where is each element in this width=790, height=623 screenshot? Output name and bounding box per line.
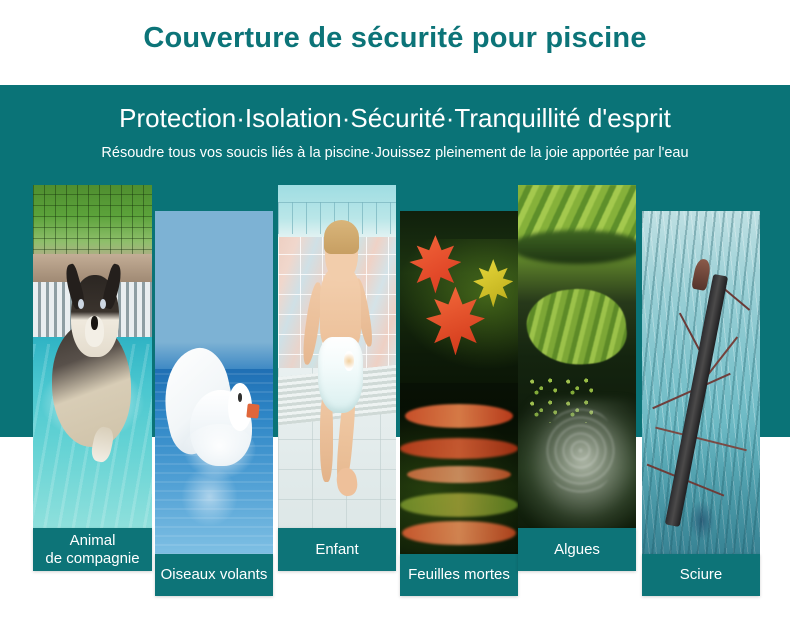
panel-child-image [278,185,396,530]
panel-pet[interactable] [33,185,152,530]
panel-birds-image [155,211,273,555]
panel-sawdust-image [642,211,760,555]
panel-dead-leaves[interactable] [400,211,518,555]
panel-pet-caption-line2: de compagnie [45,550,139,568]
banner-subheading: Résoudre tous vos soucis liés à la pisci… [0,145,790,161]
panel-algae-caption[interactable]: Algues [518,528,636,571]
panel-dead-leaves-caption[interactable]: Feuilles mortes [400,554,518,596]
panel-algae-caption-label: Algues [554,541,600,559]
panel-algae-image [518,185,636,530]
panel-sawdust[interactable] [642,211,760,555]
panel-dead-leaves-image [400,211,518,555]
panel-sawdust-caption[interactable]: Sciure [642,554,760,596]
banner-heading: Protection·Isolation·Sécurité·Tranquilli… [0,103,790,134]
panel-child-caption[interactable]: Enfant [278,528,396,571]
panel-birds-caption[interactable]: Oiseaux volants [155,554,273,596]
page-title: Couverture de sécurité pour piscine [0,22,790,55]
poster-stage: Couverture de sécurité pour piscine Prot… [0,0,790,623]
panel-birds-caption-label: Oiseaux volants [161,566,268,584]
panel-algae[interactable] [518,185,636,530]
panel-pet-caption[interactable]: Animal de compagnie [33,528,152,571]
panel-sawdust-caption-label: Sciure [680,566,723,584]
panel-child[interactable] [278,185,396,530]
panel-dead-leaves-caption-label: Feuilles mortes [408,566,510,584]
panel-birds[interactable] [155,211,273,555]
panel-child-caption-label: Enfant [315,541,358,559]
panel-pet-image [33,185,152,530]
panel-pet-caption-line1: Animal [70,532,116,550]
